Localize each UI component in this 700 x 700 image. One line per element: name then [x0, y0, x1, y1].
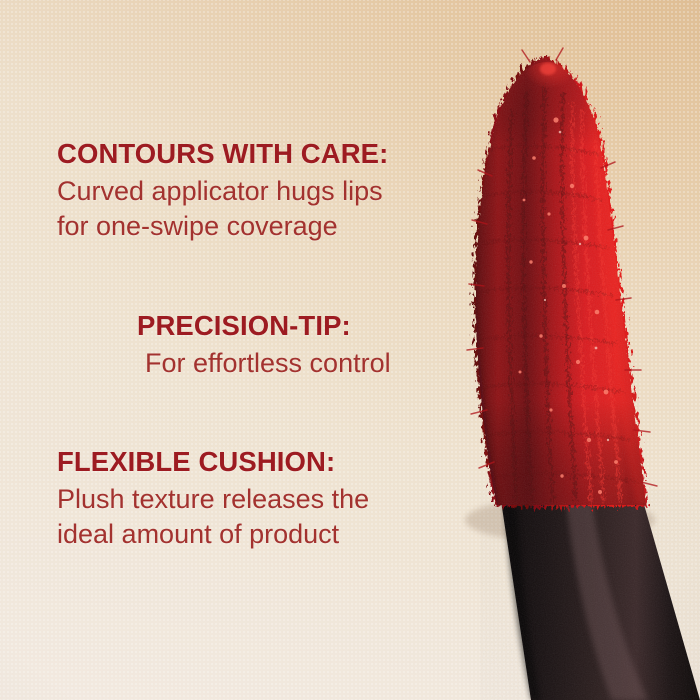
feature-block-flexible-cushion: FLEXIBLE CUSHION: Plush texture releases… — [57, 447, 369, 552]
product-feature-poster: CONTOURS WITH CARE: Curved applicator hu… — [0, 0, 700, 700]
feature-description-line: for one-swipe coverage — [57, 209, 388, 244]
feature-headline: PRECISION-TIP: — [137, 311, 391, 342]
feature-description-line: For effortless control — [145, 346, 391, 381]
feature-block-precision-tip: PRECISION-TIP: For effortless control — [137, 311, 391, 381]
feature-copy-column: CONTOURS WITH CARE: Curved applicator hu… — [0, 0, 470, 700]
feature-headline: FLEXIBLE CUSHION: — [57, 447, 369, 478]
feature-description-line: Curved applicator hugs lips — [57, 174, 388, 209]
feature-description-line: ideal amount of product — [57, 517, 369, 552]
feature-block-contours: CONTOURS WITH CARE: Curved applicator hu… — [57, 139, 388, 244]
feature-description: For effortless control — [145, 346, 391, 381]
feature-description: Curved applicator hugs lips for one-swip… — [57, 174, 388, 244]
feature-description-line: Plush texture releases the — [57, 482, 369, 517]
feature-headline: CONTOURS WITH CARE: — [57, 139, 388, 170]
feature-description: Plush texture releases the ideal amount … — [57, 482, 369, 552]
